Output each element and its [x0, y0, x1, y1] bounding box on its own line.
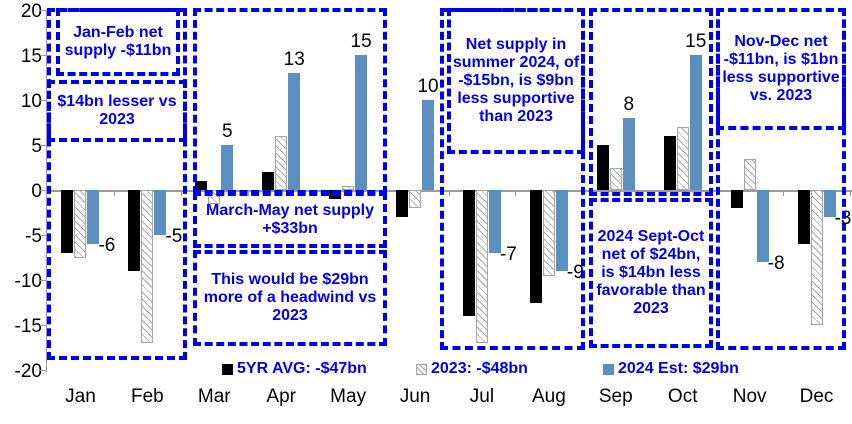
y-tick-label-5: 5 [0, 137, 42, 156]
y-tick-mark [40, 100, 47, 101]
x-axis-label-apr: Apr [251, 386, 311, 408]
y-tick-mark [40, 145, 47, 146]
legend-swatch-2024-icon [603, 364, 614, 375]
y-tick-label-m5: -5 [0, 227, 42, 246]
legend-item-2023: 2023: -$48bn [416, 360, 528, 378]
annotation-text-jan-feb-net: Jan-Feb net supply -$11bn [58, 10, 178, 74]
legend-label-avg: 5YR AVG: -$47bn [237, 360, 367, 378]
x-axis-label-nov: Nov [720, 386, 780, 408]
legend-swatch-avg-icon [222, 364, 233, 375]
y-tick-mark [40, 235, 47, 236]
y-tick-mark [40, 55, 47, 56]
y-tick-mark [40, 280, 47, 281]
x-axis-label-aug: Aug [519, 386, 579, 408]
chart-legend: 5YR AVG: -$47bn 2023: -$48bn 2024 Est: $… [0, 357, 852, 381]
x-tick-mark [850, 190, 851, 196]
y-tick-label-15: 15 [0, 47, 42, 66]
y-tick-label-10: 10 [0, 92, 42, 111]
x-axis-label-jul: Jul [452, 386, 512, 408]
annotation-box-mar-may-net [193, 192, 387, 248]
bar-value-label-jun: 10 [414, 77, 442, 96]
y-tick-label-20: 20 [0, 2, 42, 21]
chart-root: 20 15 10 5 0 -5 -10 -15 -20 -6-55131510-… [0, 0, 852, 424]
x-axis-label-jun: Jun [385, 386, 445, 408]
x-axis-label-may: May [318, 386, 378, 408]
y-tick-mark [40, 10, 47, 11]
x-axis-label-dec: Dec [787, 386, 847, 408]
y-tick-label-m10: -10 [0, 272, 42, 291]
legend-label-2024: 2024 Est: $29bn [618, 360, 739, 378]
x-axis-label-mar: Mar [184, 386, 244, 408]
legend-item-2024-est: 2024 Est: $29bn [603, 360, 739, 378]
annotation-box-sept-oct-group [589, 8, 713, 196]
y-tick-label-0: 0 [0, 182, 42, 201]
x-axis-label-jan: Jan [50, 386, 110, 408]
annotation-text-summer-net: Net supply in summer 2024, of -$15bn, is… [449, 10, 583, 152]
annotation-text-nov-dec-net: Nov-Dec net -$11bn, is $1bn less support… [718, 10, 844, 128]
y-tick-mark [40, 325, 47, 326]
bar-jun-avg [396, 190, 408, 217]
y-tick-mark [40, 190, 47, 191]
legend-label-2023: 2023: -$48bn [431, 360, 528, 378]
x-axis-label-feb: Feb [117, 386, 177, 408]
annotation-text-jan-feb-lesser: $14bn lesser vs 2023 [50, 82, 184, 140]
annotation-text-sept-oct-net: 2024 Sept-Oct net of $24bn, is $14bn les… [591, 200, 711, 346]
legend-swatch-2023-icon [416, 364, 427, 375]
x-axis-label-oct: Oct [653, 386, 713, 408]
bar-jun-y2024 [422, 100, 434, 190]
annotation-text-mar-may-headwind: This would be $29bn more of a headwind v… [196, 252, 384, 344]
annotation-box-mar-may-group [193, 8, 387, 194]
x-axis-label-sep: Sep [586, 386, 646, 408]
y-tick-label-m15: -15 [0, 317, 42, 336]
legend-item-5yr-avg: 5YR AVG: -$47bn [222, 360, 367, 378]
bar-jun-y2023 [409, 190, 421, 208]
